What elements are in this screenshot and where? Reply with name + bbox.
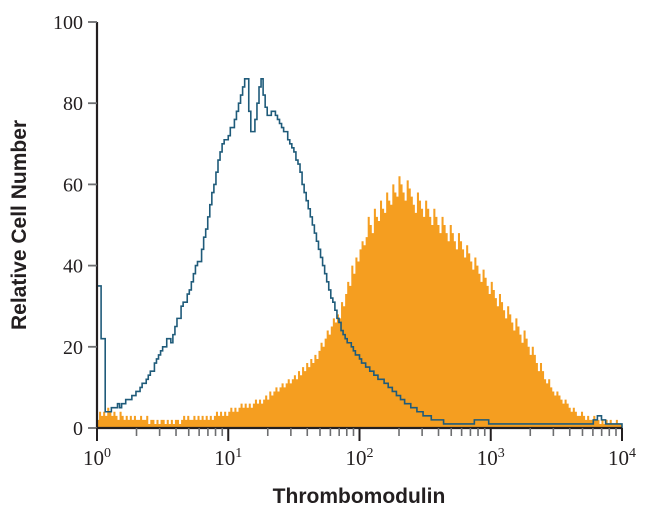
y-tick-label: 40 [63, 256, 83, 278]
histogram-plot: 020406080100 100101102103104 Thrombomodu… [0, 0, 650, 520]
y-tick-label: 100 [53, 12, 83, 34]
series-sample-area [97, 176, 622, 428]
y-axis-ticks [88, 22, 97, 428]
x-tick-label: 104 [608, 446, 636, 470]
y-tick-label: 60 [63, 174, 83, 196]
y-tick-label: 0 [73, 418, 83, 440]
y-axis-tick-labels: 020406080100 [53, 12, 83, 440]
x-tick-label: 101 [214, 446, 242, 470]
y-tick-label: 20 [63, 337, 83, 359]
x-tick-label: 100 [83, 446, 111, 470]
x-axis-title: Thrombomodulin [273, 485, 446, 508]
y-axis-title: Relative Cell Number [8, 120, 31, 330]
x-axis-ticks [97, 428, 622, 441]
x-tick-label: 103 [477, 446, 505, 470]
x-axis-tick-labels: 100101102103104 [83, 446, 636, 470]
x-tick-label: 102 [346, 446, 374, 470]
flow-cytometry-figure: 020406080100 100101102103104 Thrombomodu… [0, 0, 650, 520]
y-tick-label: 80 [63, 93, 83, 115]
